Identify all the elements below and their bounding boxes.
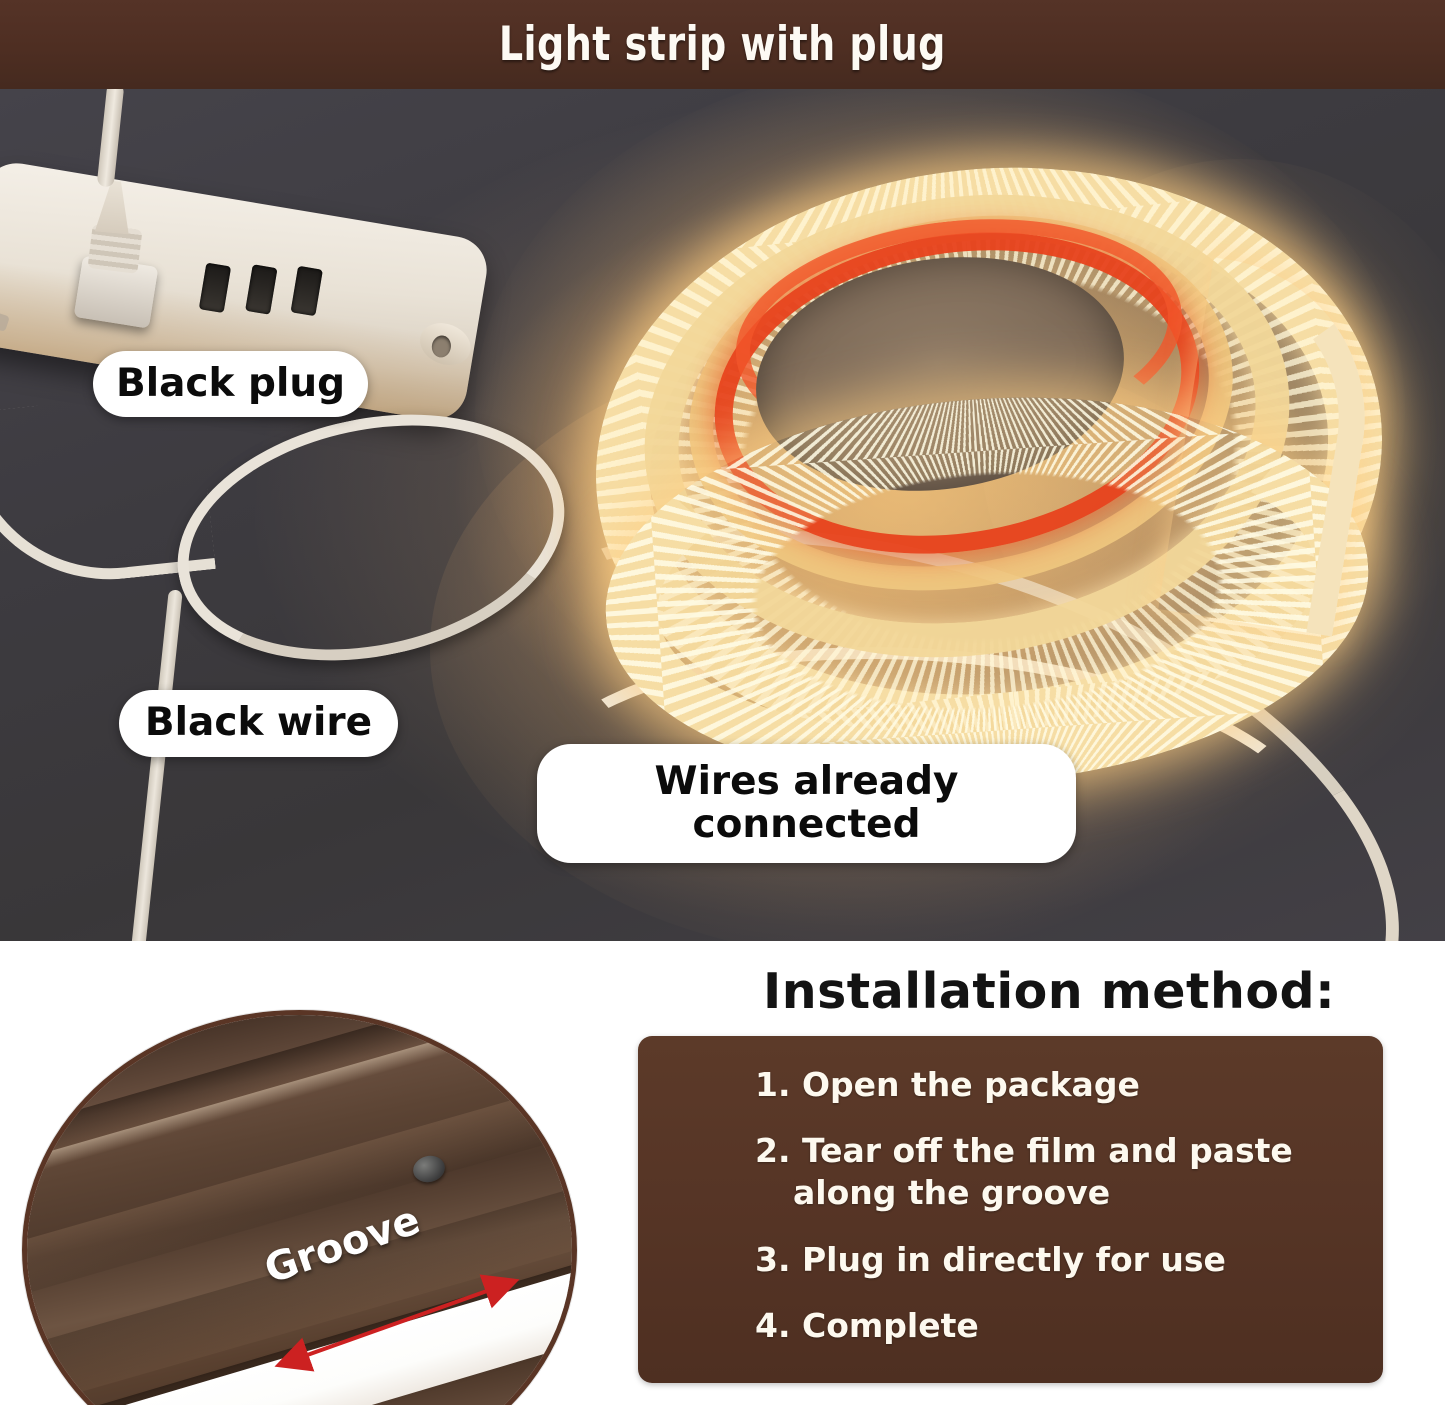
usb-port-icon xyxy=(290,266,322,316)
header-bar: Light strip with plug xyxy=(0,0,1445,89)
groove-measure-arrow xyxy=(268,1268,526,1378)
installation-method-heading: Installation method: xyxy=(763,963,1335,1020)
installation-step: 2. Tear off the film and paste along the… xyxy=(755,1130,1361,1214)
callout-wires-already-connected: Wires already connected xyxy=(537,744,1076,863)
callout-wires-line-2: connected xyxy=(655,804,959,846)
installation-step: 1. Open the package xyxy=(755,1064,1361,1106)
plug-cord xyxy=(97,89,125,188)
hero-product-photo: Black plug Black wire Wires already conn… xyxy=(0,89,1445,941)
installation-step: 3. Plug in directly for use xyxy=(755,1239,1361,1281)
installation-step: 4. Complete xyxy=(755,1305,1361,1347)
led-strip-coil xyxy=(595,149,1275,649)
power-cable-down-segment xyxy=(131,589,183,941)
callout-wires-line-1: Wires already xyxy=(655,761,959,803)
product-infographic: Light strip with plug xyxy=(0,0,1445,1405)
installation-steps-box: 1. Open the package 2. Tear off the film… xyxy=(638,1036,1383,1383)
callout-black-plug: Black plug xyxy=(93,351,368,417)
callout-black-wire: Black wire xyxy=(119,690,398,757)
page-title: Light strip with plug xyxy=(499,17,946,72)
